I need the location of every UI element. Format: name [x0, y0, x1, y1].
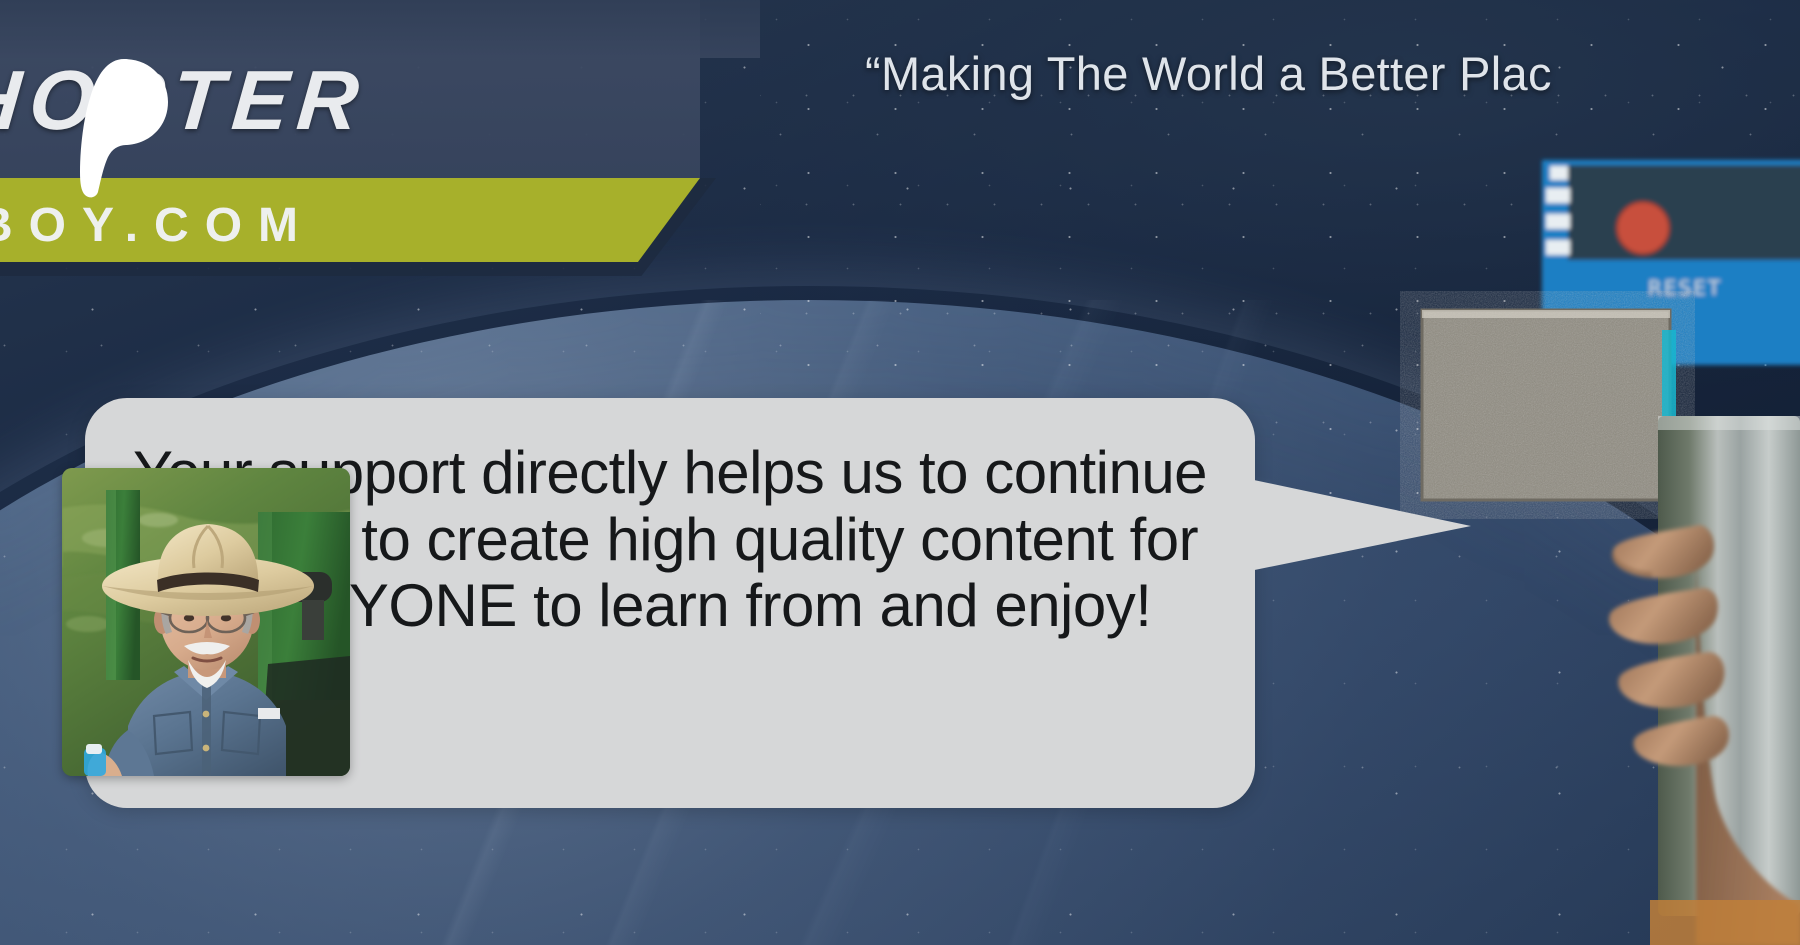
creator-portrait-illustration [62, 468, 350, 776]
reset-silkscreen-label: RESET [1648, 276, 1722, 300]
banner-stage: RESET [0, 0, 1800, 945]
patreon-logo-icon[interactable] [72, 58, 168, 198]
speech-bubble-tail [1235, 470, 1495, 620]
speech-bubble-tail-icon [1235, 470, 1495, 620]
creator-portrait-thumbnail[interactable] [62, 468, 350, 776]
table-surface [1650, 900, 1800, 945]
patreon-logo-mark[interactable] [72, 58, 168, 198]
